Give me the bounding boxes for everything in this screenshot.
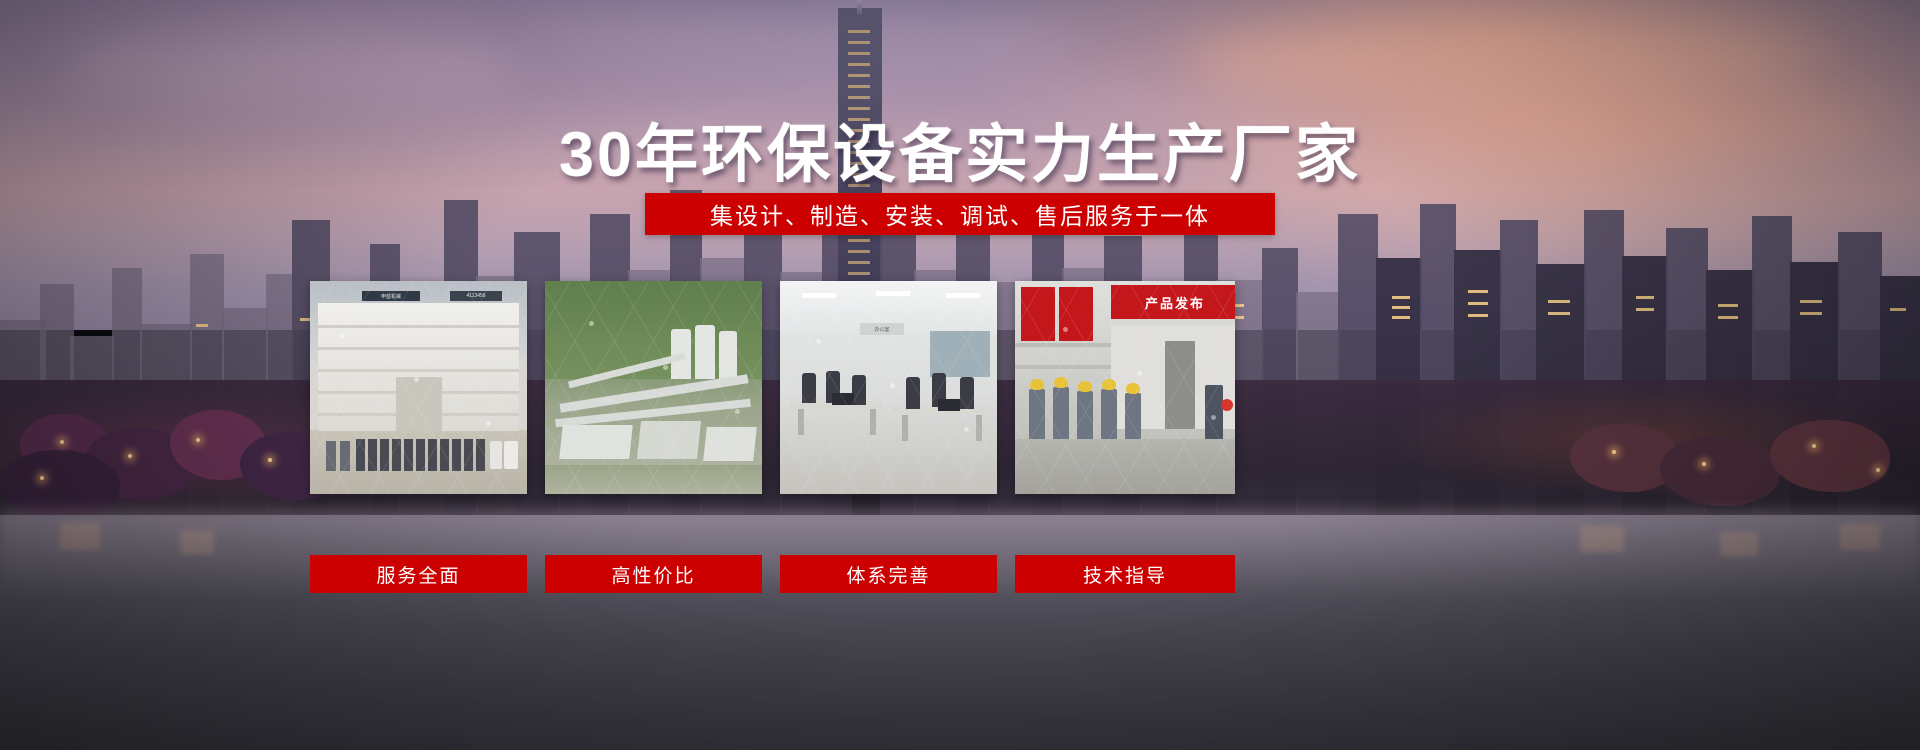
feature-caption[interactable]: 技术指导 [1015, 555, 1235, 593]
subtitle-banner: 集设计、制造、安装、调试、售后服务于一体 [645, 193, 1275, 235]
feature-caption-list: 服务全面 高性价比 体系完善 技术指导 [310, 555, 1550, 593]
photo-watermark [1015, 281, 1235, 494]
feature-card[interactable]: 产品发布 [1015, 281, 1235, 494]
feature-caption[interactable]: 体系完善 [780, 555, 997, 593]
feature-caption[interactable]: 服务全面 [310, 555, 527, 593]
feature-caption[interactable]: 高性价比 [545, 555, 762, 593]
feature-card-list: 申蓝机械 4113456 [310, 281, 1550, 494]
photo-watermark [310, 281, 527, 494]
page-title: 30年环保设备实力生产厂家 [0, 104, 1920, 195]
feature-card[interactable]: 办公室 [780, 281, 997, 494]
hero-banner: 30年环保设备实力生产厂家 集设计、制造、安装、调试、售后服务于一体 申蓝机械 … [0, 0, 1920, 750]
photo-watermark [780, 281, 997, 494]
subtitle-text: 集设计、制造、安装、调试、售后服务于一体 [710, 197, 1210, 231]
photo-watermark [545, 281, 762, 494]
feature-card[interactable]: 申蓝机械 4113456 [310, 281, 527, 494]
feature-card[interactable] [545, 281, 762, 494]
